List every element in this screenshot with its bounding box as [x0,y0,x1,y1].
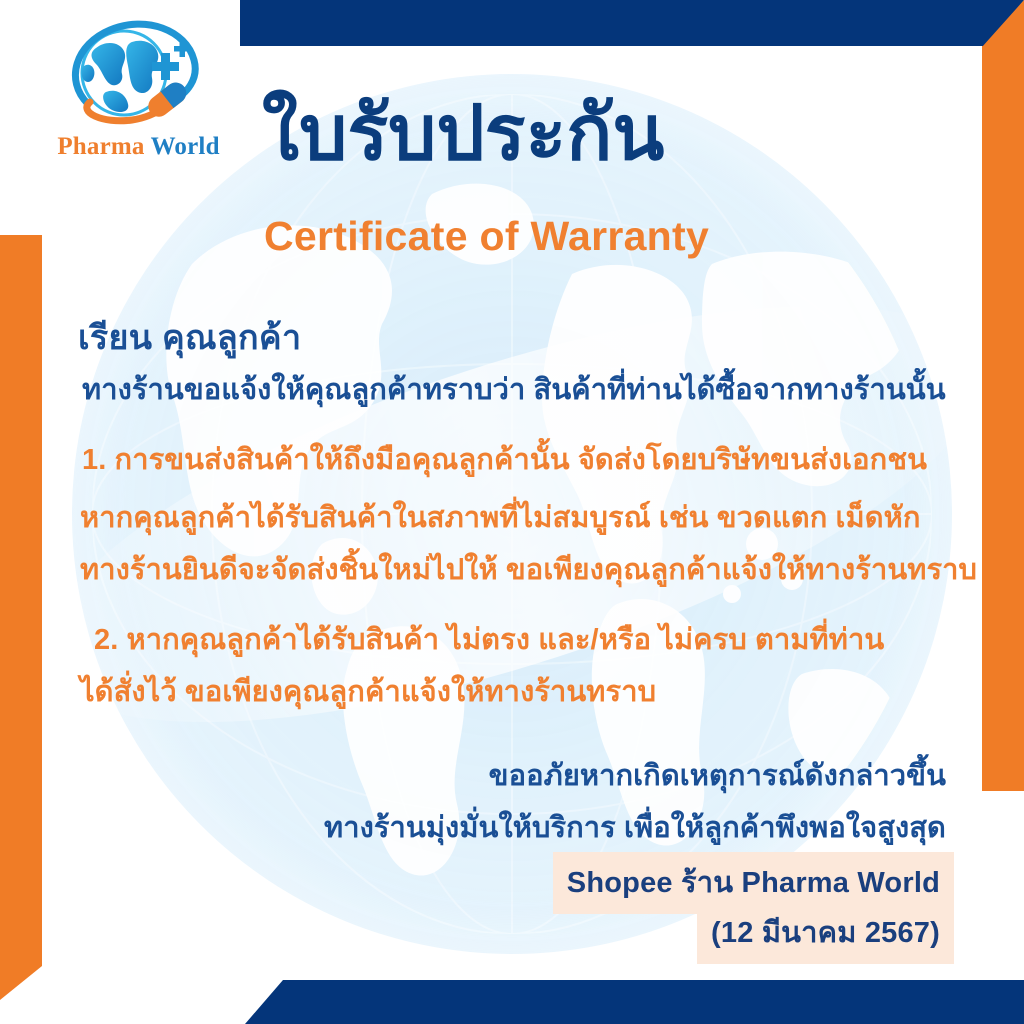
brand-name-part1: Pharma [57,133,144,160]
brand-wordmark: Pharma World [36,133,241,161]
closing-line-2: ทางร้านมุ่งมั่นให้บริการ เพื่อให้ลูกค้าพ… [324,804,946,850]
right-orange-strip [982,46,1024,791]
clause-1-line-2: หากคุณลูกค้าได้รับสินค้าในสภาพที่ไม่สมบู… [80,494,921,540]
brand-name-part2: World [151,133,220,160]
top-navy-bar [240,0,1024,46]
clause-2-line-1: 2. หากคุณลูกค้าได้รับสินค้า ไม่ตรง และ/ห… [94,616,884,662]
clause-1-line-1: 1. การขนส่งสินค้าให้ถึงมือคุณลูกค้านั้น … [82,436,927,482]
left-orange-strip [0,235,42,1000]
page-title-english: Certificate of Warranty [264,216,804,257]
page-title-thai: ใบรับประกัน [262,96,802,172]
globe-pill-icon [62,18,212,134]
warranty-certificate: Pharma World ใบรับประกัน Certificate of … [0,0,1024,1024]
salutation: เรียน คุณลูกค้า [78,310,301,364]
issue-date-badge: (12 มีนาคม 2567) [697,902,954,964]
clause-1-line-3: ทางร้านยินดีจะจัดส่งชิ้นใหม่ไปให้ ขอเพีย… [80,546,977,592]
intro-line: ทางร้านขอแจ้งให้คุณลูกค้าทราบว่า สินค้าท… [82,366,946,412]
brand-logo: Pharma World [36,18,241,178]
clause-2-line-2: ได้สั่งไว้ ขอเพียงคุณลูกค้าแจ้งให้ทางร้า… [80,668,656,714]
bottom-navy-bar [245,980,1024,1024]
closing-line-1: ขออภัยหากเกิดเหตุการณ์ดังกล่าวขึ้น [489,752,946,798]
